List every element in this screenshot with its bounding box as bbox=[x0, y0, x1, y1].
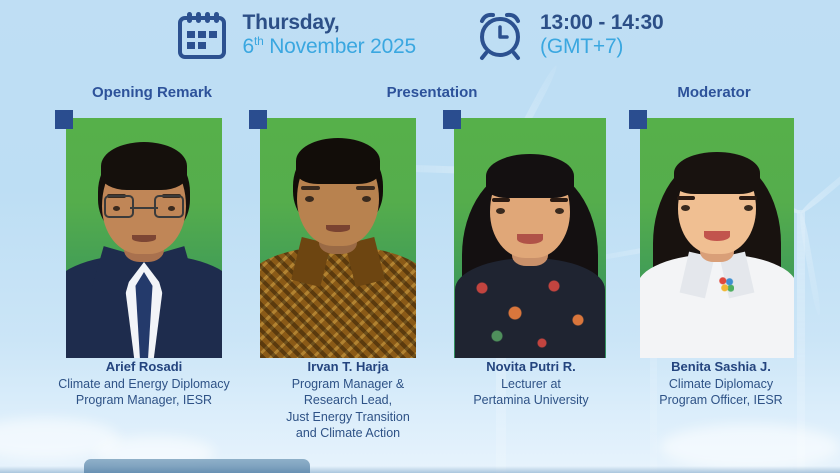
speaker-photo-arief-rosadi bbox=[66, 118, 222, 358]
speaker-title-line: Lecturer at bbox=[444, 376, 618, 393]
speaker-name: Benita Sashia J. bbox=[626, 358, 816, 376]
role-label-row: Opening Remark Presentation Moderator bbox=[0, 84, 840, 106]
event-header: Thursday, 6th November 2025 13:00 - 14:3… bbox=[0, 0, 840, 70]
speaker-title-line: Research Lead, bbox=[258, 392, 438, 409]
portrait-illustration bbox=[640, 118, 794, 358]
time-block: 13:00 - 14:30 (GMT+7) bbox=[474, 9, 663, 61]
portrait-illustration bbox=[260, 118, 416, 358]
time-text: 13:00 - 14:30 (GMT+7) bbox=[540, 11, 663, 58]
date-full: 6th November 2025 bbox=[242, 35, 416, 59]
speaker-name: Arief Rosadi bbox=[26, 358, 262, 376]
date-day-number: 6 bbox=[242, 35, 253, 58]
speaker-photo-novita-putri-r bbox=[454, 118, 606, 358]
speaker-name: Novita Putri R. bbox=[444, 358, 618, 376]
speaker-title-line: Program Manager & bbox=[258, 376, 438, 393]
speaker-title-line: Pertamina University bbox=[444, 392, 618, 409]
cloud-shape bbox=[660, 424, 840, 470]
bottom-gradient-strip bbox=[0, 466, 840, 473]
date-block: Thursday, 6th November 2025 bbox=[176, 9, 416, 61]
speaker-title-line: and Climate Action bbox=[258, 425, 438, 442]
speaker-caption-novita-putri-r: Novita Putri R. Lecturer at Pertamina Un… bbox=[444, 358, 618, 409]
time-zone: (GMT+7) bbox=[540, 35, 663, 59]
card-accent-square bbox=[249, 110, 267, 129]
speaker-photo-benita-sashia-j bbox=[640, 118, 794, 358]
card-accent-square bbox=[443, 110, 461, 129]
date-month-year: November 2025 bbox=[264, 35, 416, 58]
role-label-presentation: Presentation bbox=[332, 84, 532, 101]
date-weekday: Thursday, bbox=[242, 11, 416, 35]
calendar-icon bbox=[176, 9, 228, 61]
role-label-opening-remark: Opening Remark bbox=[52, 84, 252, 101]
role-label-moderator: Moderator bbox=[614, 84, 814, 101]
lapel-pin-icon bbox=[718, 276, 734, 292]
speaker-title-line: Program Officer, IESR bbox=[626, 392, 816, 409]
poster-canvas: Thursday, 6th November 2025 13:00 - 14:3… bbox=[0, 0, 840, 473]
speaker-title-line: Program Manager, IESR bbox=[26, 392, 262, 409]
bottom-rounded-bar bbox=[84, 459, 310, 473]
speaker-title-line: Just Energy Transition bbox=[258, 409, 438, 426]
speaker-card-row bbox=[0, 110, 840, 350]
date-day-suffix: th bbox=[254, 34, 264, 48]
portrait-illustration bbox=[454, 118, 606, 358]
date-text: Thursday, 6th November 2025 bbox=[242, 11, 416, 58]
cloud-shape bbox=[0, 418, 120, 460]
speaker-title-line: Climate and Energy Diplomacy bbox=[26, 376, 262, 393]
speaker-caption-arief-rosadi: Arief Rosadi Climate and Energy Diplomac… bbox=[26, 358, 262, 409]
card-accent-square bbox=[55, 110, 73, 129]
time-range: 13:00 - 14:30 bbox=[540, 11, 663, 35]
speaker-caption-benita-sashia-j: Benita Sashia J. Climate Diplomacy Progr… bbox=[626, 358, 816, 409]
alarm-clock-icon bbox=[474, 9, 526, 61]
speaker-caption-irvan-t-harja: Irvan T. Harja Program Manager & Researc… bbox=[258, 358, 438, 442]
card-accent-square bbox=[629, 110, 647, 129]
cloud-shape bbox=[95, 436, 215, 470]
portrait-illustration bbox=[66, 118, 222, 358]
speaker-name: Irvan T. Harja bbox=[258, 358, 438, 376]
speaker-photo-irvan-t-harja bbox=[260, 118, 416, 358]
speaker-title-line: Climate Diplomacy bbox=[626, 376, 816, 393]
